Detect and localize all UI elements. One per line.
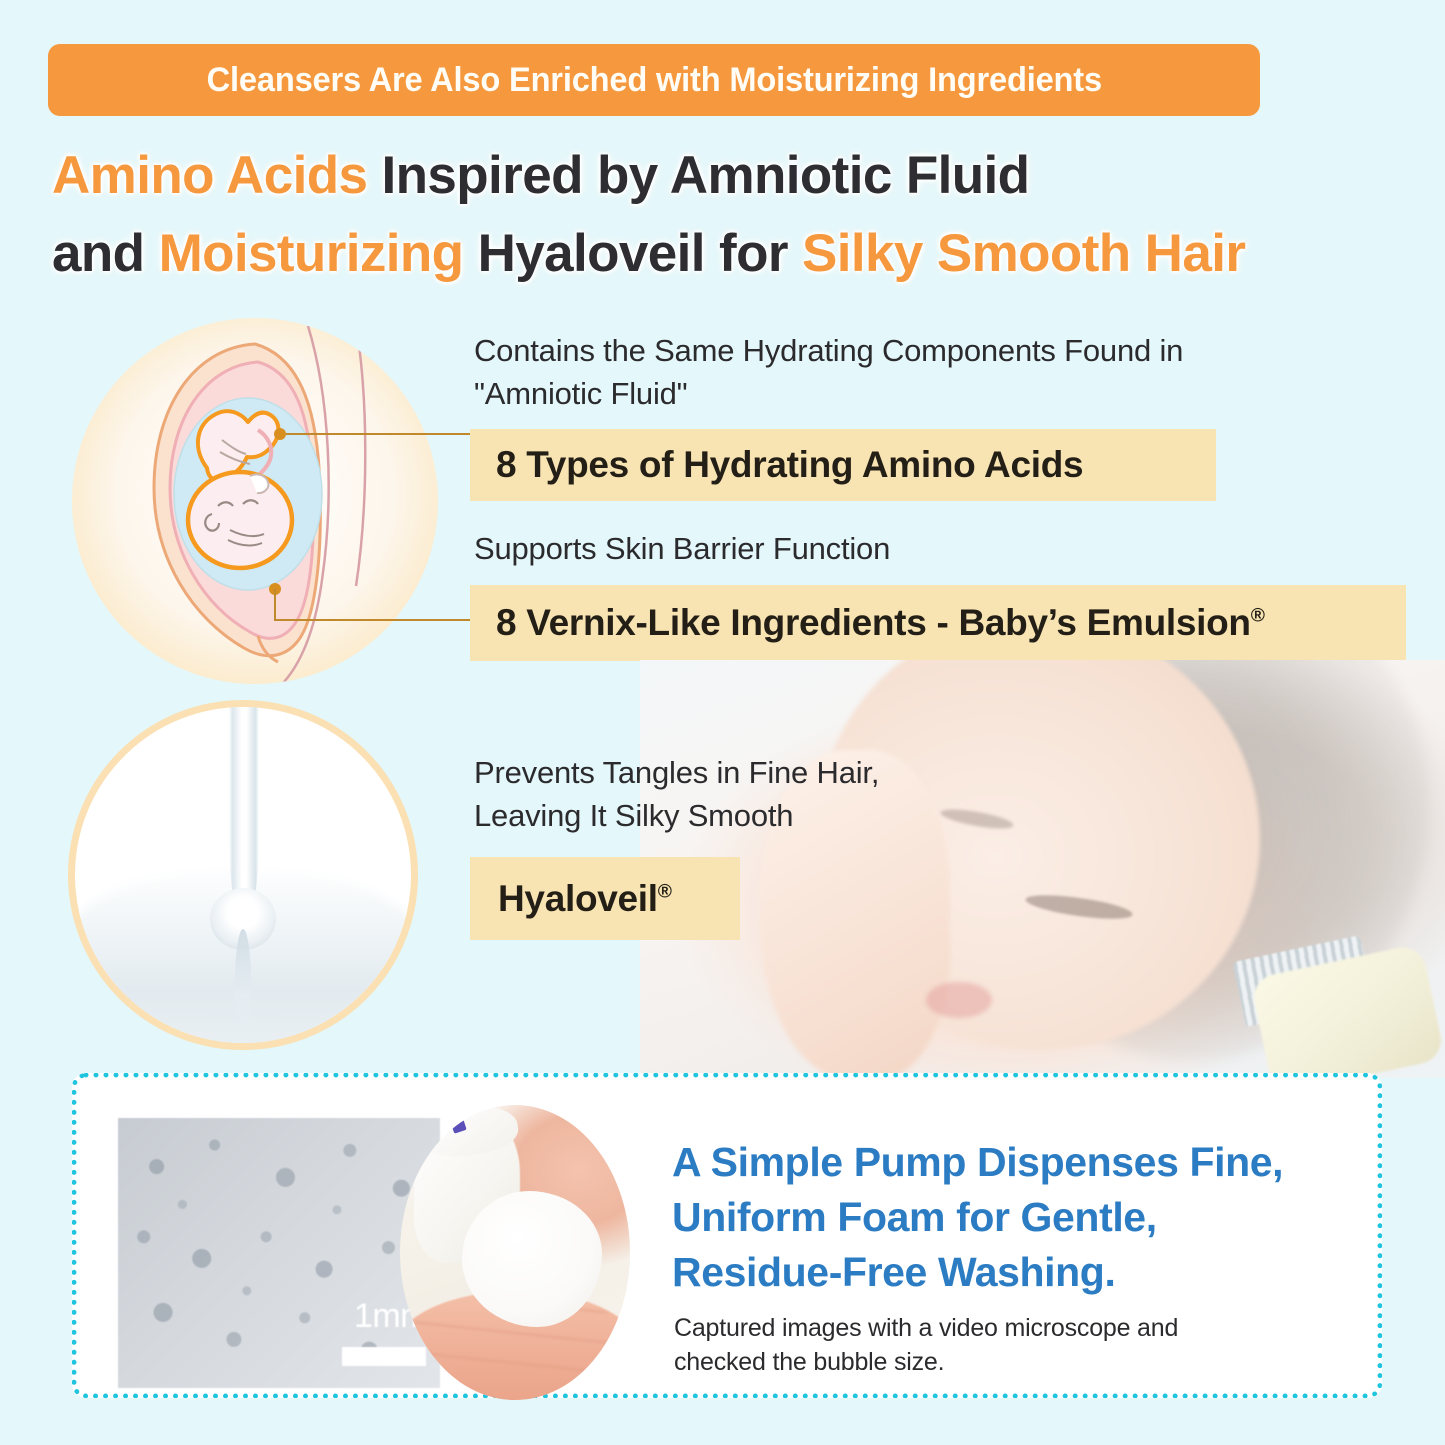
- pump-note-line-2: checked the bubble size.: [674, 1346, 1314, 1380]
- pump-heading-line-2: Uniform Foam for Gentle,: [672, 1190, 1372, 1245]
- badge-hyaloveil: Hyaloveil®: [470, 857, 740, 940]
- top-banner: Cleansers Are Also Enriched with Moistur…: [48, 44, 1260, 116]
- headline-line-1-rest: Inspired by Amniotic Fluid: [367, 146, 1029, 205]
- pump-note: Captured images with a video microscope …: [674, 1312, 1314, 1379]
- connector-line-1: [286, 433, 470, 435]
- badge-hyaloveil-label: Hyaloveil®: [498, 878, 672, 920]
- pump-heading-line-3: Residue-Free Washing.: [672, 1245, 1372, 1300]
- connector-dot-1: [274, 428, 286, 440]
- top-banner-label: Cleansers Are Also Enriched with Moistur…: [206, 61, 1101, 100]
- badge-amino-acids-label: 8 Types of Hydrating Amino Acids: [496, 444, 1083, 486]
- hyaloveil-liquid-photo: [68, 700, 418, 1050]
- liquid-stream: [229, 703, 259, 918]
- headline-emphasis-silky-smooth-hair: Silky Smooth Hair: [802, 224, 1245, 283]
- connector-vert-2: [274, 589, 276, 621]
- callout-lead-vernix: Supports Skin Barrier Function: [474, 528, 1214, 571]
- badge-amino-acids: 8 Types of Hydrating Amino Acids: [470, 429, 1216, 501]
- foam-in-hand-photo: [400, 1105, 630, 1400]
- headline-line-1: Amino Acids Inspired by Amniotic Fluid: [52, 138, 1402, 214]
- headline-line-2: and Moisturizing Hyaloveil for Silky Smo…: [52, 216, 1402, 292]
- promo-page: Cleansers Are Also Enriched with Moistur…: [0, 0, 1445, 1445]
- callout-lead-amino-acids: Contains the Same Hydrating Components F…: [474, 330, 1214, 416]
- liquid-tail: [235, 929, 251, 1039]
- microscope-bubble-image: 1mm: [118, 1118, 440, 1388]
- pump-heading-line-1: A Simple Pump Dispenses Fine,: [672, 1135, 1372, 1190]
- badge-vernix-registered-mark: ®: [1251, 606, 1265, 627]
- womb-diagram-icon: [72, 318, 438, 684]
- amniotic-fluid-illustration: [72, 318, 438, 684]
- pump-heading: A Simple Pump Dispenses Fine, Uniform Fo…: [672, 1135, 1372, 1300]
- headline-emphasis-amino-acids: Amino Acids: [52, 146, 367, 205]
- callout-lead-hyaloveil: Prevents Tangles in Fine Hair, Leaving I…: [474, 752, 994, 838]
- baby-mouth: [926, 982, 992, 1018]
- badge-vernix: 8 Vernix-Like Ingredients - Baby’s Emuls…: [470, 585, 1406, 661]
- pump-note-line-1: Captured images with a video microscope …: [674, 1312, 1314, 1346]
- connector-line-2: [274, 619, 470, 621]
- headline-emphasis-moisturizing: Moisturizing: [159, 224, 464, 283]
- headline-line-2-and: and: [52, 224, 159, 283]
- page-title: Amino Acids Inspired by Amniotic Fluid a…: [52, 138, 1402, 293]
- foam-blob: [462, 1191, 602, 1327]
- badge-hyaloveil-registered-mark: ®: [658, 881, 672, 902]
- badge-vernix-label: 8 Vernix-Like Ingredients - Baby’s Emuls…: [496, 602, 1265, 644]
- baby-sleeping-photo: [640, 660, 1445, 1078]
- headline-line-2-mid: Hyaloveil for: [463, 224, 802, 283]
